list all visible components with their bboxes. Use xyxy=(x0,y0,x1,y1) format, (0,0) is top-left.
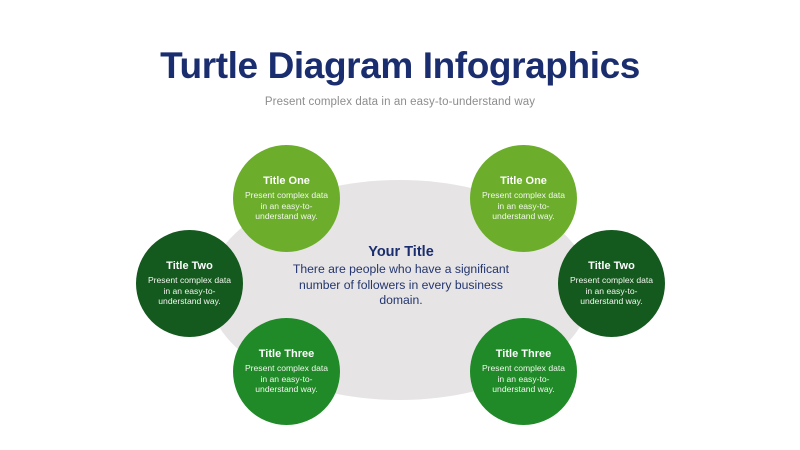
node-title: Title Two xyxy=(588,260,635,273)
infographic-slide: Turtle Diagram Infographics Present comp… xyxy=(0,0,800,450)
node-title: Title Two xyxy=(166,260,213,273)
node-circle-mid-left[interactable]: Title Two Present complex data in an eas… xyxy=(136,230,243,337)
node-circle-bottom-right[interactable]: Title Three Present complex data in an e… xyxy=(470,318,577,425)
node-body: Present complex data in an easy-to-under… xyxy=(479,190,568,222)
node-body: Present complex data in an easy-to-under… xyxy=(479,363,568,395)
node-circle-mid-right[interactable]: Title Two Present complex data in an eas… xyxy=(558,230,665,337)
node-title: Title Three xyxy=(496,348,551,361)
node-title: Title One xyxy=(500,175,547,188)
node-circle-top-right[interactable]: Title One Present complex data in an eas… xyxy=(470,145,577,252)
turtle-diagram: Your Title There are people who have a s… xyxy=(0,0,800,450)
center-text-block: Your Title There are people who have a s… xyxy=(292,243,510,309)
center-body: There are people who have a significant … xyxy=(292,262,510,309)
node-circle-top-left[interactable]: Title One Present complex data in an eas… xyxy=(233,145,340,252)
node-body: Present complex data in an easy-to-under… xyxy=(567,275,656,307)
node-title: Title Three xyxy=(259,348,314,361)
node-title: Title One xyxy=(263,175,310,188)
node-body: Present complex data in an easy-to-under… xyxy=(242,363,331,395)
node-circle-bottom-left[interactable]: Title Three Present complex data in an e… xyxy=(233,318,340,425)
node-body: Present complex data in an easy-to-under… xyxy=(242,190,331,222)
center-title: Your Title xyxy=(292,243,510,261)
node-body: Present complex data in an easy-to-under… xyxy=(145,275,234,307)
